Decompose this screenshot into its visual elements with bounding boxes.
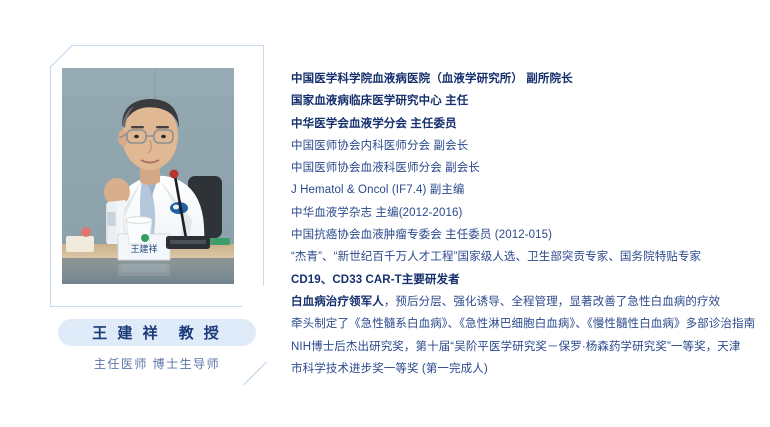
credential-line: CD19、CD33 CAR-T主要研发者: [291, 269, 751, 291]
credential-line: J Hematol & Oncol (IF7.4) 副主编: [291, 179, 751, 201]
credential-line: 市科学技术进步奖一等奖 (第一完成人): [291, 358, 751, 380]
speaker-title-subtitle: 主任医师 博士生导师: [50, 355, 264, 372]
credential-line: 国家血液病临床医学研究中心 主任: [291, 90, 751, 112]
credential-line-rest: ，预后分层、强化诱导、全程管理，显著改善了急性白血病的疗效: [384, 296, 720, 308]
credential-line: 中华血液学杂志 主编(2012-2016): [291, 202, 751, 224]
credential-line: 白血病治疗领军人，预后分层、强化诱导、全程管理，显著改善了急性白血病的疗效: [291, 291, 751, 313]
credential-line: “杰青”、“新世纪百千万人才工程”国家级人选、卫生部突贡专家、国务院特贴专家: [291, 246, 751, 268]
credential-line-lead: 白血病治疗领军人: [291, 296, 384, 308]
speaker-photo: 王建祥: [62, 68, 234, 284]
credential-line: 牵头制定了《急性髓系白血病》、《急性淋巴细胞白血病》、《慢性髓性白血病》多部诊治…: [291, 313, 751, 335]
svg-text:王建祥: 王建祥: [130, 243, 157, 255]
speaker-name: 王 建 祥 教 授: [92, 322, 222, 343]
credential-line: 中华医学会血液学分会 主任委员: [291, 113, 751, 135]
credentials-list: 中国医学科学院血液病医院（血液学研究所） 副所院长国家血液病临床医学研究中心 主…: [291, 68, 751, 380]
credential-line: NIH博士后杰出研究奖，第十届“吴阶平医学研究奖－保罗·杨森药学研究奖”一等奖，…: [291, 336, 751, 358]
credential-line: 中国医师协会血液科医师分会 副会长: [291, 157, 751, 179]
credential-line: 中国医师协会内科医师分会 副会长: [291, 135, 751, 157]
credential-line: 中国医学科学院血液病医院（血液学研究所） 副所院长: [291, 68, 751, 90]
slide-canvas: 王建祥: [0, 0, 770, 427]
profile-column: 王建祥: [50, 45, 266, 385]
credential-line: 中国抗癌协会血液肿瘤专委会 主任委员 (2012-015): [291, 224, 751, 246]
speaker-name-badge: 王 建 祥 教 授: [58, 319, 256, 346]
